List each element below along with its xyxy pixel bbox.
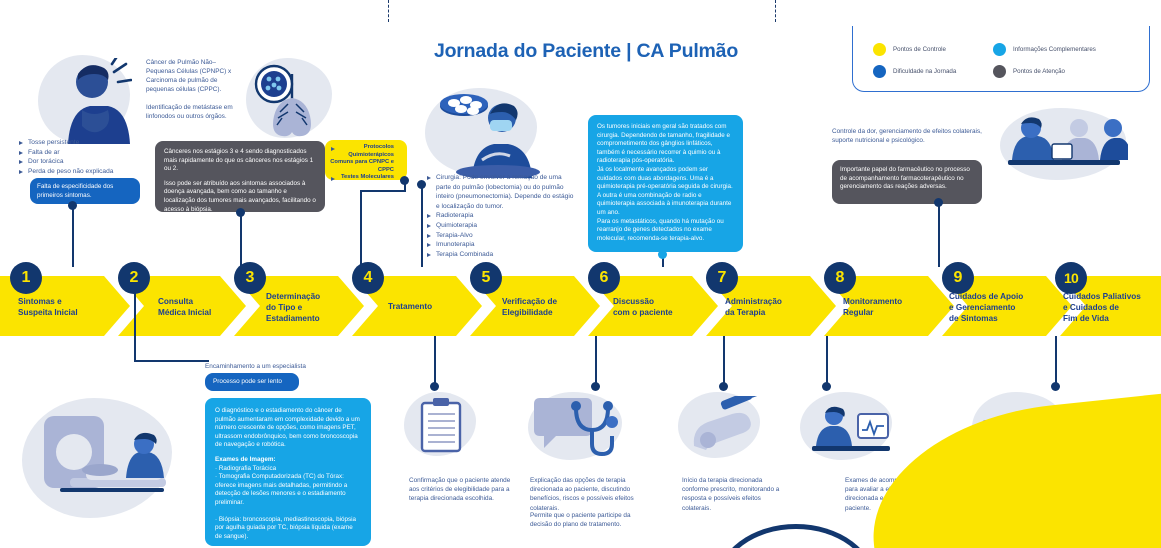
legend-dot-complementary-info [993,43,1006,56]
referral-text: Encaminhamento a um especialista [205,362,355,371]
doctor-consult-icon [1000,108,1128,182]
step-circle-4[interactable]: 4 [352,262,384,294]
info-box-diagnosis-p3: · Tomografia Computadorizada (TC) do Tór… [215,473,361,507]
info-box-treatment-p2: Já os localmente avançados podem ser cui… [597,166,734,218]
treatment-item: Imunoterapia [426,240,574,250]
connector-dot-step6-down [591,382,600,391]
treatment-option-list: Cirurgia: Pode envolver a remoção de uma… [426,173,574,259]
info-box-diagnosis-p2: · Radiografia Torácica [215,465,361,474]
difficulty-box-referral: Processo pode ser lento [205,373,299,391]
stethoscope-speech-icon [530,394,626,460]
treatment-item: Terapia-Alvo [426,231,574,241]
attention-box-pharmacist: Importante papel do farmacêutico no proc… [832,160,982,204]
surgeon-icon [432,90,542,178]
treatment-item: Cirurgia: Pode envolver a remoção de uma… [426,173,574,211]
info-box-treatment: Os tumores iniciais em geral são tratado… [588,115,743,252]
attention-box-staging-p1: Cânceres nos estágios 3 e 4 sendo diagno… [164,148,316,174]
step-label-1: Sintomas e Suspeita Inicial [18,296,116,318]
decorative-blue-arc [716,524,876,548]
legend: Pontos de Controle Dificuldade na Jornad… [852,26,1150,92]
crop-mark-right [775,0,776,22]
step-circle-1[interactable]: 1 [10,262,42,294]
attention-box-pharmacist-text: Importante papel do farmacêutico no proc… [840,166,974,192]
protocol-item: Protocolos Quimioterápicos Comuns para C… [330,144,402,174]
symptom-item: Tosse persistente [18,138,148,148]
step-label-4: Tratamento [388,301,480,312]
connector-line-protocols-h [360,190,405,192]
treatment-item: Radioterapia [426,211,574,221]
support-care-text: Controle da dor, gerenciamento de efeito… [832,127,984,145]
patient-monitoring-icon [806,396,894,458]
caption-step7: Início da terapia direcionada conforme p… [682,476,782,513]
connector-dot-info [658,250,667,259]
symptom-item: Falta de ar [18,148,148,158]
connector-line-step8-down [826,336,828,384]
connector-dot-step5-down [430,382,439,391]
connector-line-step10-down [1055,336,1057,384]
step-circle-9[interactable]: 9 [942,262,974,294]
connector-dot-treatment [417,180,426,189]
info-box-diagnosis-p1: O diagnóstico e o estadiamento do câncer… [215,407,361,450]
cancer-type-text-2: Identificação de metástase em linfonodos… [146,103,238,121]
step-label-9: Cuidados de Apoio e Gerenciamento de Sin… [949,291,1054,324]
connector-dot-staging [236,208,245,217]
info-box-treatment-p3: Para os metastáticos, quando há mutação … [597,218,734,244]
infographic-canvas: Jornada do Paciente | CA Pulmão Pontos d… [0,0,1161,548]
step-label-5: Verificação de Elegibilidade [502,296,594,318]
step-label-6: Discussão com o paciente [613,296,705,318]
legend-label-3: Pontos de Atenção [1013,68,1065,75]
step-circle-2[interactable]: 2 [118,262,150,294]
legend-label-0: Pontos de Controle [893,46,946,53]
protocol-list: Protocolos Quimioterápicos Comuns para C… [330,144,402,182]
info-box-diagnosis-p4: · Biópsia: broncoscopia, mediastinoscopi… [215,516,361,542]
symptom-list: Tosse persistente Falta de ar Dor toráci… [18,138,148,176]
info-box-diagnosis-heading: Exames de Imagem: [215,456,361,465]
legend-dot-attention-points [993,65,1006,78]
connector-dot-pharmacist [934,198,943,207]
protocol-item: Testes Moleculares [330,174,402,182]
step-circle-8[interactable]: 8 [824,262,856,294]
step-label-8: Monitoramento Regular [843,296,937,318]
step-circle-6[interactable]: 6 [588,262,620,294]
connector-line-referral-v [134,290,136,362]
connector-line-step7-down [723,336,725,384]
clipboard-icon [418,396,464,454]
legend-label-2: Dificuldade na Jornada [893,68,956,75]
connector-dot-symptoms [68,201,77,210]
connector-dot-step10-down [1051,382,1060,391]
connector-dot-step8-down [822,382,831,391]
info-box-diagnosis: O diagnóstico e o estadiamento do câncer… [205,398,371,546]
step-label-7: Administração da Terapia [725,296,819,318]
coughing-patient-icon [48,58,132,144]
treatment-item: Terapia Combinada [426,250,574,260]
connector-line-pharmacist [938,202,940,267]
attention-box-staging: Cânceres nos estágios 3 e 4 sendo diagno… [155,141,325,212]
difficulty-box-symptoms: Falta de especificidade dos primeiros si… [30,178,140,204]
legend-dot-control-points [873,43,886,56]
connector-dot-step7-down [719,382,728,391]
step-circle-7[interactable]: 7 [706,262,738,294]
lungs-icon [248,58,332,138]
connector-line-protocols-v2 [360,190,362,267]
syringe-hand-icon [686,396,760,456]
symptom-item: Dor torácica [18,157,148,167]
step-circle-3[interactable]: 3 [234,262,266,294]
mri-scanner-icon [30,400,170,518]
legend-item-0: Pontos de Controle [873,43,946,56]
step-label-10: Cuidados Paliativos e Cuidados de Fim de… [1063,291,1161,324]
connector-line-staging [240,212,242,267]
decorative-yellow-swoosh [861,392,1161,548]
treatment-item: Quimioterapia [426,221,574,231]
page-title: Jornada do Paciente | CA Pulmão [400,40,772,63]
legend-item-3: Pontos de Atenção [993,65,1065,78]
step-circle-10[interactable]: 10 [1055,262,1087,294]
legend-item-2: Dificuldade na Jornada [873,65,956,78]
connector-line-step6-down [595,336,597,384]
step-label-3: Determinação do Tipo e Estadiamento [266,291,358,324]
connector-dot-protocols [400,176,409,185]
difficulty-box-referral-text: Processo pode ser lento [213,378,291,387]
caption-step6-a: Explicação das opções de terapia direcio… [530,476,638,513]
info-box-treatment-p1: Os tumores iniciais em geral são tratado… [597,123,734,166]
step-label-2: Consulta Médica Inicial [158,296,248,318]
connector-line-referral-h [134,360,209,362]
legend-item-1: Informações Complementares [993,43,1096,56]
connector-line-symptoms [72,205,74,267]
legend-dot-journey-difficulty [873,65,886,78]
crop-mark-left [388,0,389,22]
caption-step6-b: Permite que o paciente participe da deci… [530,511,638,529]
control-box-protocols: Protocolos Quimioterápicos Comuns para C… [325,140,407,180]
cancer-type-text-1: Câncer de Pulmão Não–Pequenas Células (C… [146,58,238,94]
connector-line-treatment [421,184,423,267]
legend-label-1: Informações Complementares [1013,46,1096,53]
difficulty-box-symptoms-text: Falta de especificidade dos primeiros si… [37,183,133,200]
symptom-item: Perda de peso não explicada [18,167,148,177]
step-circle-5[interactable]: 5 [470,262,502,294]
caption-step5: Confirmação que o paciente atende aos cr… [409,476,514,504]
connector-line-step5-down [434,336,436,384]
